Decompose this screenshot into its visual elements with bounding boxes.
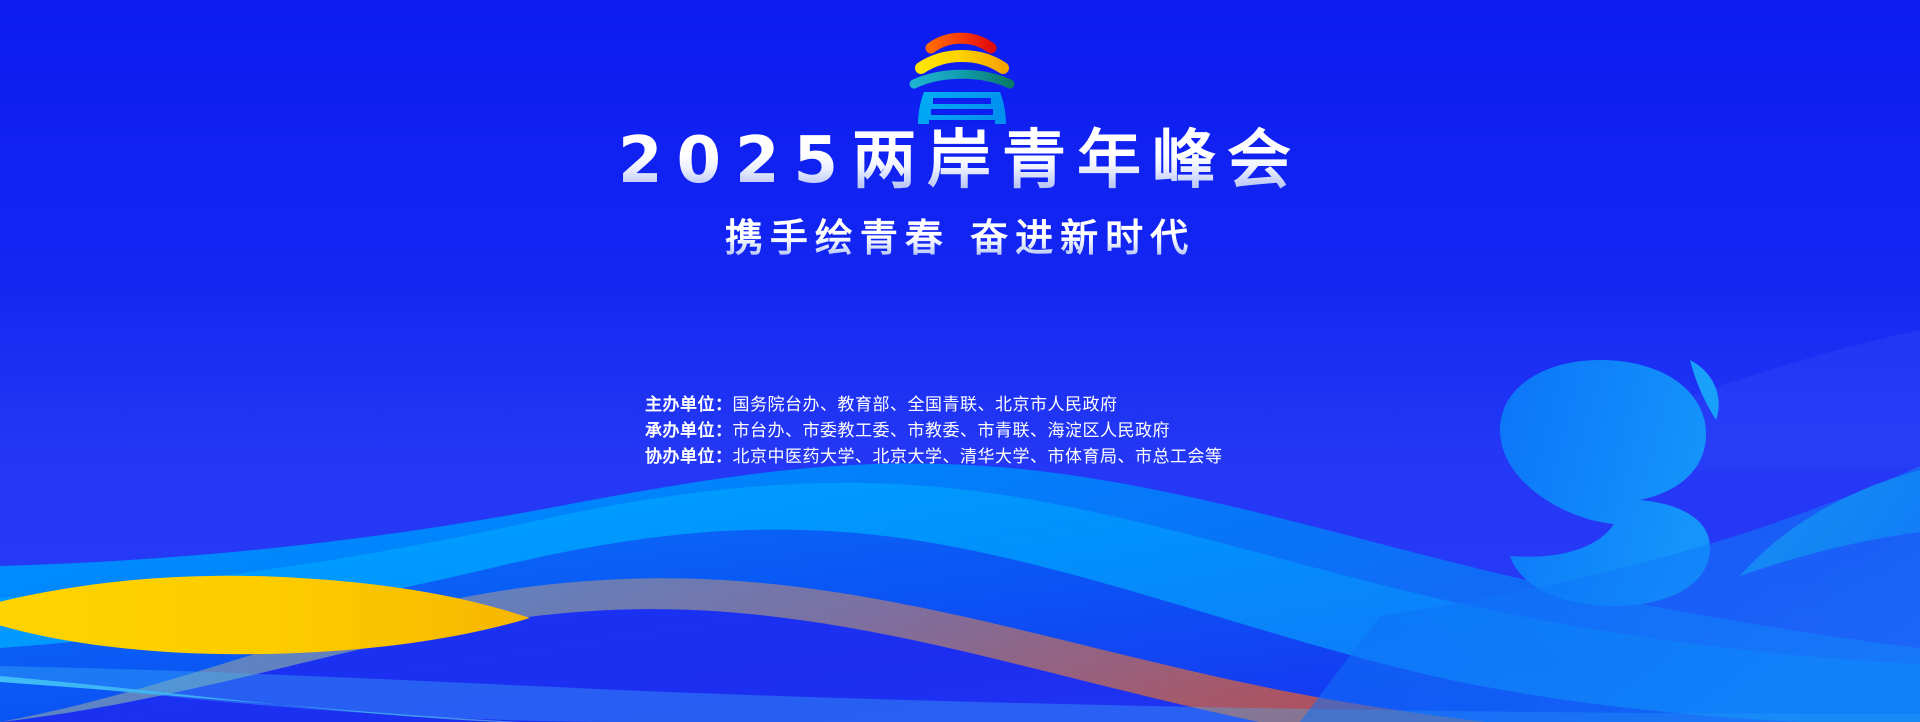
organizer-list: 主办单位：国务院台办、教育部、全国青联、北京市人民政府 承办单位：市台办、市委教… xyxy=(645,392,1223,470)
logo-arc-yellow xyxy=(921,56,1003,68)
wave-mid-blue xyxy=(0,530,1920,722)
page-title: 2025两岸青年峰会 xyxy=(0,122,1920,200)
organizer-value-supporter: 北京中医药大学、北京大学、清华大学、市体育局、市总工会等 xyxy=(733,447,1223,467)
page-subtitle: 携手绘青春 奋进新时代 xyxy=(0,214,1920,262)
event-banner: 2025两岸青年峰会 携手绘青春 奋进新时代 主办单位：国务院台办、教育部、全国… xyxy=(0,0,1920,722)
logo-arc-red xyxy=(931,38,991,48)
wave-cyan-bright xyxy=(0,483,1920,722)
wave-sheen-right xyxy=(1520,330,1920,470)
wave-right-sweep xyxy=(1300,466,1920,722)
organizer-row-supporter: 协办单位：北京中医药大学、北京大学、清华大学、市体育局、市总工会等 xyxy=(645,444,1223,470)
organizer-row-host: 主办单位：国务院台办、教育部、全国青联、北京市人民政府 xyxy=(645,392,1223,418)
temple-of-heaven-icon xyxy=(890,24,1030,124)
wave-deep-foreground xyxy=(0,609,1920,722)
wave-yellow-lens xyxy=(0,576,530,654)
title-year: 2025 xyxy=(618,124,852,198)
organizer-value-coorganizer: 市台办、市委教工委、市教委、市青联、海淀区人民政府 xyxy=(733,421,1171,441)
logo-base-body xyxy=(918,92,1006,124)
wave-crest-droplet xyxy=(1690,360,1719,420)
organizer-label-coorganizer: 承办单位： xyxy=(645,421,733,441)
organizer-row-coorganizer: 承办单位：市台办、市委教工委、市教委、市青联、海淀区人民政府 xyxy=(645,418,1223,444)
wave-right-band xyxy=(1740,470,1920,576)
logo-arc-teal xyxy=(914,74,1010,84)
organizer-label-host: 主办单位： xyxy=(645,395,733,415)
organizer-value-host: 国务院台办、教育部、全国青联、北京市人民政府 xyxy=(733,395,1118,415)
wave-thin-light-line xyxy=(0,676,520,722)
headline-block: 2025两岸青年峰会 携手绘青春 奋进新时代 xyxy=(0,122,1920,262)
title-name: 两岸青年峰会 xyxy=(852,124,1302,198)
logo-base-slat-2 xyxy=(931,109,993,115)
event-logo xyxy=(890,24,1030,124)
organizer-label-supporter: 协办单位： xyxy=(645,447,733,467)
wave-thin-light-line-2 xyxy=(0,666,1920,722)
wave-color-ribbon xyxy=(0,578,1920,722)
logo-base-slat-1 xyxy=(933,98,991,104)
wave-crest-right xyxy=(1500,360,1710,606)
wave-cyan-upper xyxy=(0,463,1920,722)
